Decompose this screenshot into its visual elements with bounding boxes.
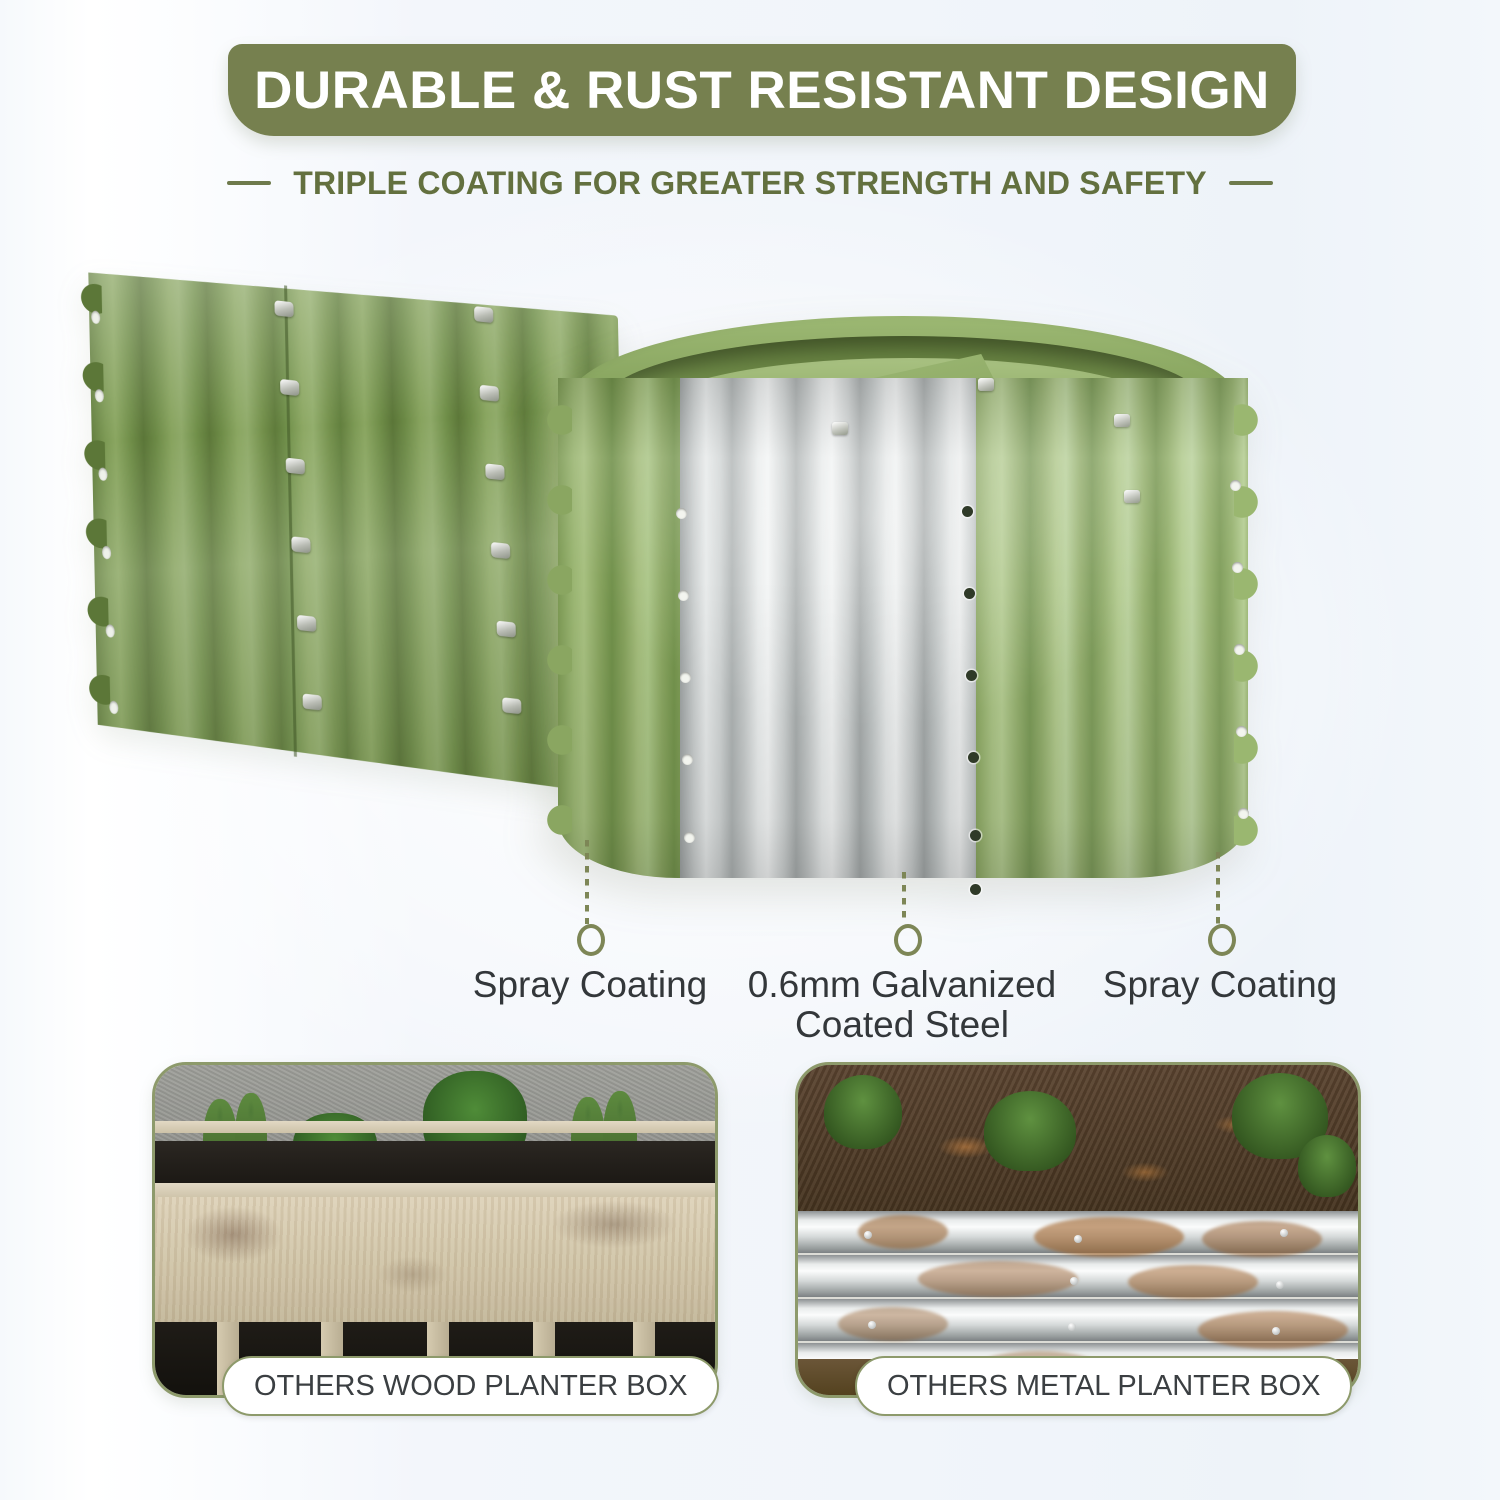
wall-rivet-hole	[680, 672, 691, 683]
wall-rivet-hole	[966, 670, 977, 681]
wall-rivet-hole	[682, 754, 693, 765]
metal-photo-rust-stain	[858, 1215, 948, 1249]
metal-photo-rust-stain	[1202, 1221, 1322, 1257]
comparison-photo-wood-planter	[152, 1062, 718, 1398]
panel-screw	[291, 536, 310, 553]
rim-screw	[832, 422, 848, 435]
metal-photo-bolt	[1070, 1277, 1078, 1285]
wall-rivet-hole	[1238, 808, 1249, 819]
panel-hole	[109, 700, 118, 714]
panel-screw	[297, 615, 316, 632]
metal-photo-rust-stain	[918, 1261, 1078, 1297]
callout-marker-left	[577, 924, 605, 956]
wood-photo-weathered-board	[155, 1197, 715, 1322]
panel-hole	[102, 546, 111, 560]
callout-label-galvanized-steel: 0.6mm Galvanized Coated Steel	[722, 965, 1082, 1045]
planter-body	[558, 318, 1248, 888]
metal-photo-bolt	[864, 1231, 872, 1239]
panel-screw	[280, 379, 299, 396]
metal-photo-bolt	[1276, 1281, 1284, 1289]
callout-label-spray-coating-right: Spray Coating	[1045, 965, 1395, 1005]
rim-screw	[978, 378, 994, 391]
comparison-photo-metal-planter	[795, 1062, 1361, 1398]
infographic-page: DURABLE & RUST RESISTANT DESIGN TRIPLE C…	[0, 0, 1500, 1500]
wall-rivet-hole	[962, 506, 973, 517]
metal-photo-bolt	[1272, 1327, 1280, 1335]
metal-photo-plant	[984, 1091, 1076, 1171]
wall-rivet-hole	[1234, 644, 1245, 655]
dash-right-decoration	[1229, 181, 1273, 185]
panel-screw	[485, 463, 504, 480]
metal-photo-rust-stain	[1034, 1217, 1184, 1257]
wall-scallop-left	[546, 380, 572, 876]
panel-screw	[502, 697, 521, 714]
panel-screw	[474, 306, 493, 323]
comparison-caption-wood: OTHERS WOOD PLANTER BOX	[222, 1356, 719, 1416]
wall-rivet-hole	[676, 508, 687, 519]
rim-screw	[1114, 414, 1130, 427]
subtitle-row: TRIPLE COATING FOR GREATER STRENGTH AND …	[0, 158, 1500, 208]
panel-hole	[98, 467, 107, 481]
wall-rivet-hole	[970, 830, 981, 841]
wall-rivet-hole	[1230, 480, 1241, 491]
metal-photo-bolt	[1074, 1235, 1082, 1243]
panel-screw	[480, 385, 499, 402]
metal-photo-bolt	[1068, 1323, 1076, 1331]
metal-photo-bolt	[1280, 1229, 1288, 1237]
panel-screw	[497, 621, 516, 638]
planter-wall	[558, 378, 1248, 878]
wall-rivet-hole	[1232, 562, 1243, 573]
metal-photo-rust-stain	[1128, 1265, 1258, 1299]
wall-shading	[558, 378, 1248, 878]
wall-rivet-hole	[964, 588, 975, 599]
rim-screw	[1124, 490, 1140, 503]
panel-screw	[286, 458, 305, 475]
metal-photo-bolt	[868, 1321, 876, 1329]
header-banner: DURABLE & RUST RESISTANT DESIGN	[228, 44, 1296, 136]
callout-marker-center	[894, 924, 922, 956]
panel-hole	[95, 389, 104, 403]
metal-photo-rib	[798, 1255, 1358, 1297]
dash-left-decoration	[227, 181, 271, 185]
wood-photo-top-rail	[155, 1121, 715, 1133]
wall-rivet-hole	[678, 590, 689, 601]
metal-photo-plant	[824, 1075, 902, 1149]
wall-rivet-hole	[684, 832, 695, 843]
callout-label-spray-coating-left: Spray Coating	[415, 965, 765, 1005]
hero-product-illustration	[0, 230, 1500, 950]
page-subtitle: TRIPLE COATING FOR GREATER STRENGTH AND …	[293, 165, 1207, 202]
panel-hole	[91, 310, 100, 324]
panel-screw	[303, 693, 322, 710]
wall-rivet-hole	[968, 752, 979, 763]
panel-hole	[106, 624, 115, 638]
metal-photo-plant	[1298, 1135, 1356, 1197]
callout-marker-right	[1208, 924, 1236, 956]
panel-screw	[491, 542, 510, 559]
callout-leader-line-right	[1216, 852, 1220, 924]
wall-rivet-hole	[970, 884, 981, 895]
panel-screw	[274, 300, 293, 317]
callout-leader-line-center	[902, 872, 906, 924]
metal-photo-rust-stain	[838, 1307, 948, 1341]
callout-leader-line-left	[585, 840, 589, 924]
comparison-caption-metal: OTHERS METAL PLANTER BOX	[855, 1356, 1352, 1416]
wall-rivet-hole	[1236, 726, 1247, 737]
page-title: DURABLE & RUST RESISTANT DESIGN	[254, 64, 1270, 117]
wall-scallop-right	[1234, 378, 1262, 878]
